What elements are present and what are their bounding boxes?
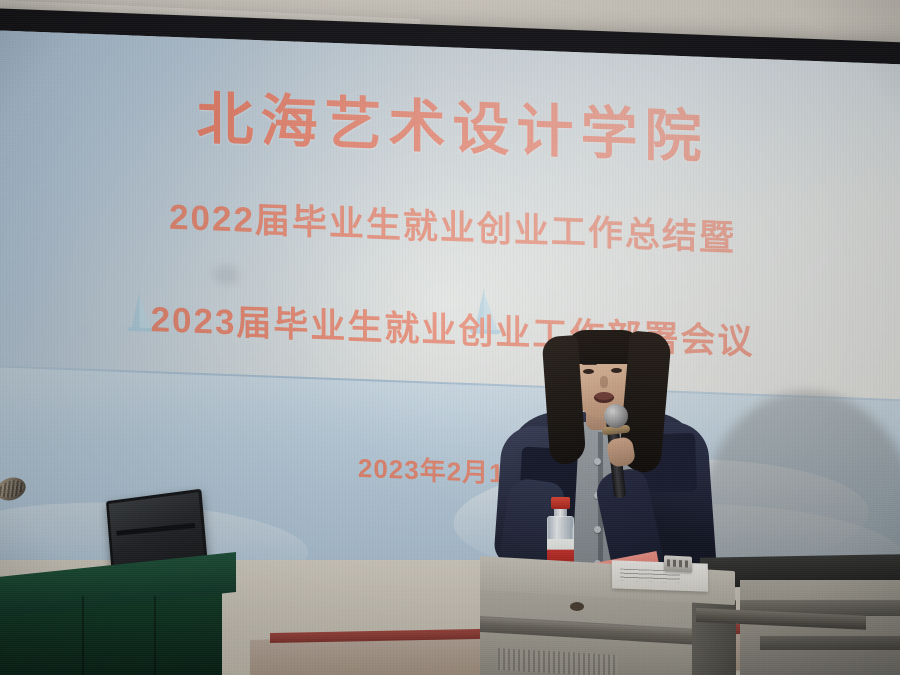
slide-subtitle-line-1: 2022届毕业生就业创业工作总结暨	[0, 182, 900, 267]
screenshot-root: 北海艺术设计学院 2022届毕业生就业创业工作总结暨 2023届毕业生就业创业工…	[0, 0, 900, 675]
green-draped-table	[0, 552, 236, 675]
speaker-mouth	[594, 392, 614, 403]
presenter-remote	[664, 555, 692, 572]
slide-subtitle-line-2: 2023届毕业生就业创业工作部署会议	[0, 286, 900, 371]
microphone-head-icon	[604, 404, 628, 428]
bottle-cap	[551, 497, 570, 509]
printed-note	[612, 560, 708, 591]
slide-institution-title: 北海艺术设计学院	[0, 65, 900, 181]
desk-microphone	[0, 478, 30, 504]
speaker-nose	[600, 376, 608, 388]
